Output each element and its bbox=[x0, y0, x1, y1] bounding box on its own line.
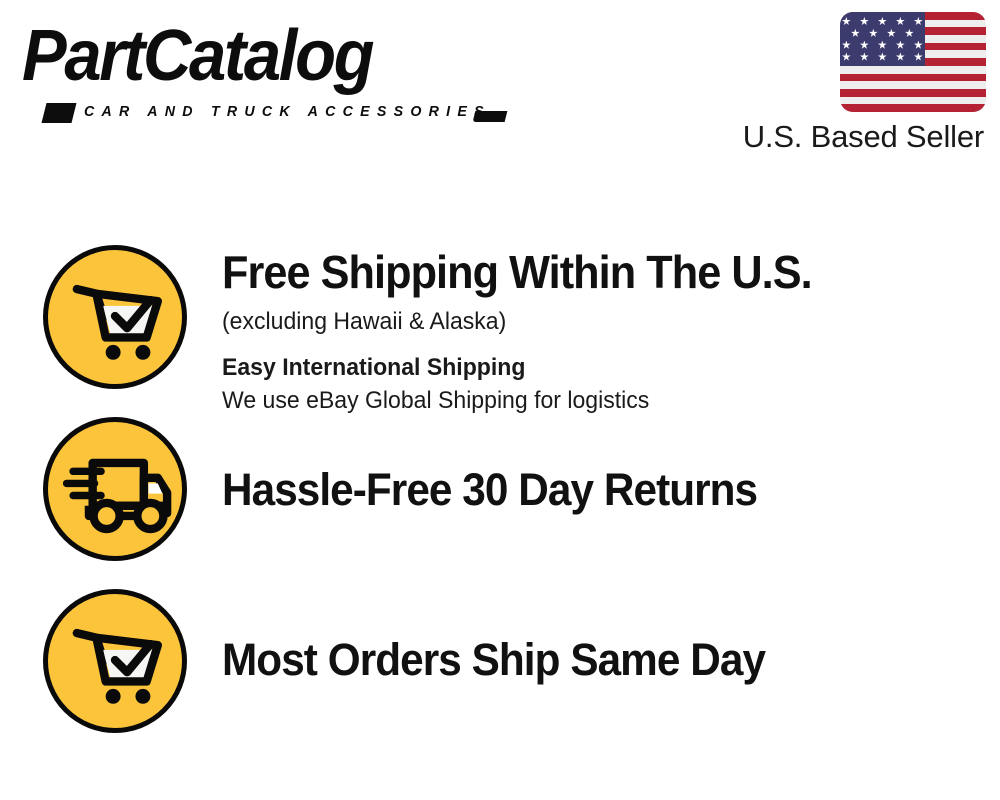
shopping-cart-check-icon bbox=[43, 589, 187, 733]
feature-row: Free Shipping Within The U.S. (excluding… bbox=[0, 245, 1000, 420]
delivery-truck-icon bbox=[43, 417, 187, 561]
feature-row: Hassle-Free 30 Day Returns bbox=[0, 417, 1000, 567]
feature-title: Most Orders Ship Same Day bbox=[222, 635, 765, 685]
feature-list: Free Shipping Within The U.S. (excluding… bbox=[0, 0, 1000, 800]
shopping-cart-check-icon bbox=[43, 245, 187, 389]
feature-subtitle: We use eBay Global Shipping for logistic… bbox=[222, 385, 824, 417]
feature-subtitle: Easy International Shipping bbox=[222, 352, 824, 384]
feature-text-block: Most Orders Ship Same Day bbox=[222, 635, 800, 685]
feature-row: Most Orders Ship Same Day bbox=[0, 589, 1000, 741]
feature-text-block: Hassle-Free 30 Day Returns bbox=[222, 465, 791, 515]
feature-text-block: Free Shipping Within The U.S. (excluding… bbox=[222, 247, 849, 417]
feature-subtitle: (excluding Hawaii & Alaska) bbox=[222, 306, 824, 338]
feature-title: Free Shipping Within The U.S. bbox=[222, 247, 812, 297]
feature-title: Hassle-Free 30 Day Returns bbox=[222, 465, 757, 515]
